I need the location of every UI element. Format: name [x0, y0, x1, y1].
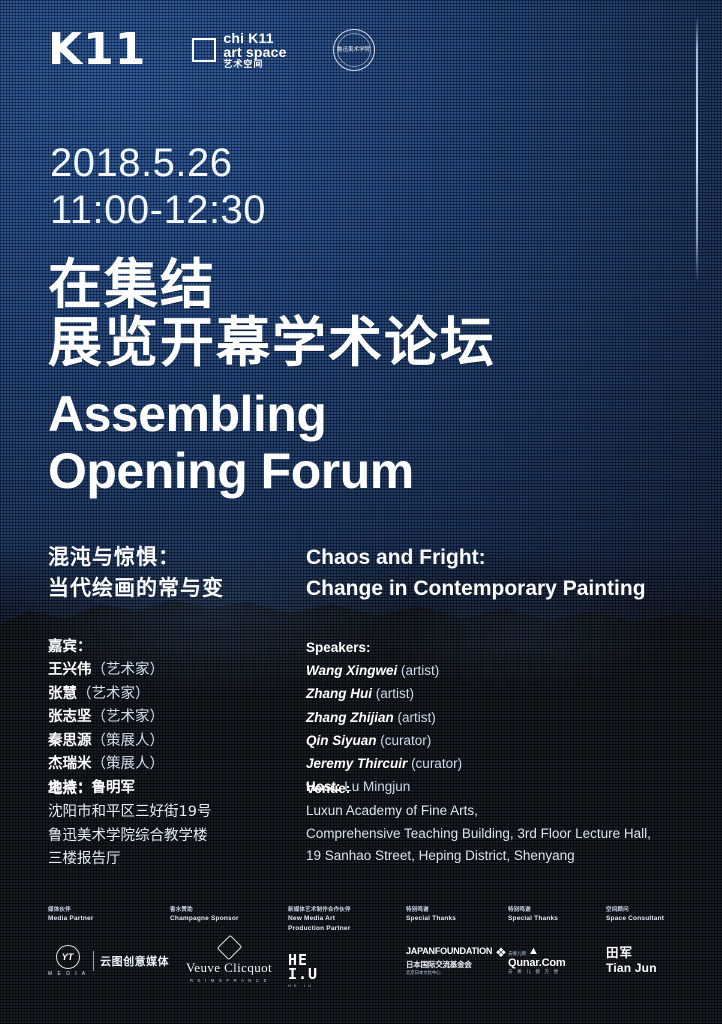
sponsor-media-partner: 媒体伙伴 Media Partner YT M E D I A 云图创意媒体: [48, 906, 170, 984]
venue-en-line: Luxun Academy of Fine Arts,: [306, 800, 698, 822]
speaker-role-en: (curator): [411, 756, 462, 771]
heiu-logo: HE I.U H E . I U: [288, 947, 406, 993]
speaker-role-cn: （策展人）: [92, 756, 165, 772]
speaker-role-en: (artist): [401, 663, 439, 678]
tian-jun-name-en: Tian Jun: [606, 961, 657, 976]
sponsor-label-cn: 空间顾问: [606, 906, 688, 914]
subtitle-cn-line2: 当代绘画的常与变: [48, 573, 306, 604]
divider: [93, 951, 94, 971]
event-time: 11:00-12:30: [50, 187, 266, 234]
sponsor-label-en-line2: Production Partner: [288, 924, 406, 933]
japan-foundation-center-cn: 北京日本文化中心: [406, 970, 507, 976]
heiu-line2: I.U: [288, 967, 318, 981]
event-date: 2018.5.26: [50, 140, 266, 187]
academy-seal-text: 鲁迅美术学院: [337, 47, 370, 53]
tian-jun-name-cn: 田军: [606, 945, 657, 961]
subtitle-en-line1: Chaos and Fright:: [306, 542, 698, 573]
title-english-line1: Assembling: [48, 386, 414, 443]
chi-k11-artspace-logo: chi K11 art space 艺术空间: [192, 31, 286, 70]
speakers-chinese: 嘉宾： 王兴伟（艺术家） 张慧（艺术家） 张志坚（艺术家） 秦思源（策展人） 杰…: [48, 636, 306, 800]
venue-chinese: 地点： 沈阳市和平区三好街19号 鲁迅美术学院综合教学楼 三楼报告厅: [48, 778, 306, 872]
japan-foundation-name-cn: 日本国际交流基金会: [406, 959, 507, 970]
sponsor-new-media-art: 新媒体艺术制作合作伙伴 New Media Art Production Par…: [288, 906, 406, 993]
venue-block: 地点： 沈阳市和平区三好街19号 鲁迅美术学院综合教学楼 三楼报告厅 Venue…: [48, 778, 698, 872]
speakers-english: Speakers: Wang Xingwei (artist) Zhang Hu…: [306, 636, 698, 800]
sponsor-label-en-line1: New Media Art: [288, 914, 406, 923]
speaker-name-cn: 张志坚: [48, 709, 92, 725]
speaker-row: 秦思源（策展人）: [48, 730, 306, 753]
speaker-name-en: Zhang Hui: [306, 686, 372, 701]
veuve-clicquot-sub: R E I M S F R A N C E: [170, 978, 288, 983]
speaker-role-cn: （艺术家）: [92, 662, 165, 678]
qunar-wordmark: Qunar.Com: [508, 957, 566, 969]
sponsor-label-cn: 特别鸣谢: [406, 906, 508, 914]
speaker-name-en: Zhang Zhijian: [306, 710, 394, 725]
veuve-clicquot-wordmark: Veuve Clicquot: [170, 960, 288, 976]
brand-logo-row: K11 chi K11 art space 艺术空间 鲁迅美术学院: [48, 28, 375, 72]
camel-icon: ▲: [528, 946, 539, 957]
speaker-row: 杰瑞米（策展人）: [48, 753, 306, 776]
speaker-name-cn: 张慧: [48, 686, 77, 702]
speaker-row: Qin Siyuan (curator): [306, 729, 698, 752]
title-chinese-line2: 展览开幕学术论坛: [48, 314, 496, 372]
speaker-row: Zhang Zhijian (artist): [306, 706, 698, 729]
speaker-role-en: (artist): [376, 686, 414, 701]
sponsor-space-consultant: 空间顾问 Space Consultant 田军 Tian Jun: [606, 906, 688, 984]
speaker-row: Jeremy Thircuir (curator): [306, 752, 698, 775]
venue-en-line: 19 Sanhao Street, Heping District, Sheny…: [306, 845, 698, 867]
square-icon: [192, 38, 216, 62]
speaker-row: Wang Xingwei (artist): [306, 659, 698, 682]
speaker-name-en: Jeremy Thircuir: [306, 756, 407, 771]
venue-cn-line: 鲁迅美术学院综合教学楼: [48, 825, 306, 848]
speaker-role-cn: （艺术家）: [77, 686, 150, 702]
sponsor-label-cn: 香水赞助: [170, 906, 288, 914]
chi-k11-line3: 艺术空间: [223, 60, 286, 69]
speakers-block: 嘉宾： 王兴伟（艺术家） 张慧（艺术家） 张志坚（艺术家） 秦思源（策展人） 杰…: [48, 636, 698, 800]
sponsor-label-en: Special Thanks: [508, 914, 606, 923]
title-chinese: 在集结 展览开幕学术论坛: [48, 256, 496, 372]
speaker-row: 王兴伟（艺术家）: [48, 659, 306, 682]
event-datetime: 2018.5.26 11:00-12:30: [50, 140, 266, 234]
subtitle-block: 混沌与惊惧： 当代绘画的常与变 Chaos and Fright: Change…: [48, 542, 698, 604]
venue-heading-en: Venue:: [306, 778, 698, 800]
speaker-role-cn: （策展人）: [92, 733, 165, 749]
speaker-name-cn: 秦思源: [48, 733, 92, 749]
japan-foundation-wordmark: JAPANFOUNDATION: [406, 946, 492, 956]
subtitle-chinese: 混沌与惊惧： 当代绘画的常与变: [48, 542, 306, 604]
speakers-heading-en: Speakers:: [306, 636, 698, 659]
tian-jun-credit: 田军 Tian Jun: [606, 938, 688, 984]
swirl-icon: ❖: [495, 946, 507, 959]
japan-foundation-logo: JAPANFOUNDATION ❖ 日本国际交流基金会 北京日本文化中心: [406, 938, 508, 984]
qunar-logo: 去哪儿网 ▲ Qunar.Com 去 哪 儿 都 方 便: [508, 938, 606, 984]
crest-icon: [216, 935, 241, 960]
yt-monogram-icon: YT: [56, 945, 80, 969]
title-chinese-line1: 在集结: [48, 256, 496, 314]
title-english-line2: Opening Forum: [48, 443, 414, 500]
sponsor-label-cn: 新媒体艺术制作合作伙伴: [288, 906, 406, 914]
speaker-role-en: (artist): [398, 710, 436, 725]
speaker-name-cn: 杰瑞米: [48, 756, 92, 772]
sponsor-special-thanks-japan: 特别鸣谢 Special Thanks JAPANFOUNDATION ❖ 日本…: [406, 906, 508, 984]
qunar-slogan-cn: 去 哪 儿 都 方 便: [508, 969, 566, 975]
yt-media-name-cn: 云图创意媒体: [100, 953, 169, 969]
speaker-name-en: Wang Xingwei: [306, 663, 397, 678]
speakers-heading-cn: 嘉宾：: [48, 636, 306, 659]
chi-k11-line2: art space: [223, 45, 286, 60]
sponsor-label-cn: 特别鸣谢: [508, 906, 606, 914]
subtitle-cn-line1: 混沌与惊惧：: [48, 542, 306, 573]
chi-k11-line1: chi K11: [223, 31, 286, 46]
sponsor-label-en: Media Partner: [48, 914, 170, 923]
k11-logo: K11: [48, 28, 146, 72]
sponsor-special-thanks-qunar: 特别鸣谢 Special Thanks 去哪儿网 ▲ Qunar.Com 去 哪…: [508, 906, 606, 984]
academy-seal-icon: 鲁迅美术学院: [333, 29, 375, 71]
venue-heading-cn: 地点：: [48, 778, 306, 801]
speaker-role-en: (curator): [380, 733, 431, 748]
yt-media-logo: YT M E D I A 云图创意媒体: [48, 938, 170, 984]
speaker-role-cn: （艺术家）: [92, 709, 165, 725]
event-poster: K11 chi K11 art space 艺术空间 鲁迅美术学院 2018.5…: [0, 0, 722, 1024]
sponsor-label-en: Special Thanks: [406, 914, 508, 923]
yt-media-wordmark: M E D I A: [48, 971, 87, 977]
speaker-row: 张志坚（艺术家）: [48, 706, 306, 729]
subtitle-english: Chaos and Fright: Change in Contemporary…: [306, 542, 698, 604]
subtitle-en-line2: Change in Contemporary Painting: [306, 573, 698, 604]
sponsor-label-en: Space Consultant: [606, 914, 688, 923]
veuve-clicquot-logo: Veuve Clicquot R E I M S F R A N C E: [170, 938, 288, 984]
sponsor-label-en: Champagne Sponsor: [170, 914, 288, 923]
speaker-row: 张慧（艺术家）: [48, 683, 306, 706]
venue-cn-line: 三楼报告厅: [48, 848, 306, 871]
venue-english: Venue: Luxun Academy of Fine Arts, Compr…: [306, 778, 698, 872]
speaker-name-cn: 王兴伟: [48, 662, 92, 678]
heiu-sub: H E . I U: [288, 983, 318, 988]
sponsor-row: 媒体伙伴 Media Partner YT M E D I A 云图创意媒体 香…: [48, 906, 688, 993]
venue-en-line: Comprehensive Teaching Building, 3rd Flo…: [306, 823, 698, 845]
venue-cn-line: 沈阳市和平区三好街19号: [48, 801, 306, 824]
speaker-row: Zhang Hui (artist): [306, 682, 698, 705]
speaker-name-en: Qin Siyuan: [306, 733, 377, 748]
sponsor-champagne: 香水赞助 Champagne Sponsor Veuve Clicquot R …: [170, 906, 288, 984]
title-english: Assembling Opening Forum: [48, 386, 414, 500]
sponsor-label-cn: 媒体伙伴: [48, 906, 170, 914]
